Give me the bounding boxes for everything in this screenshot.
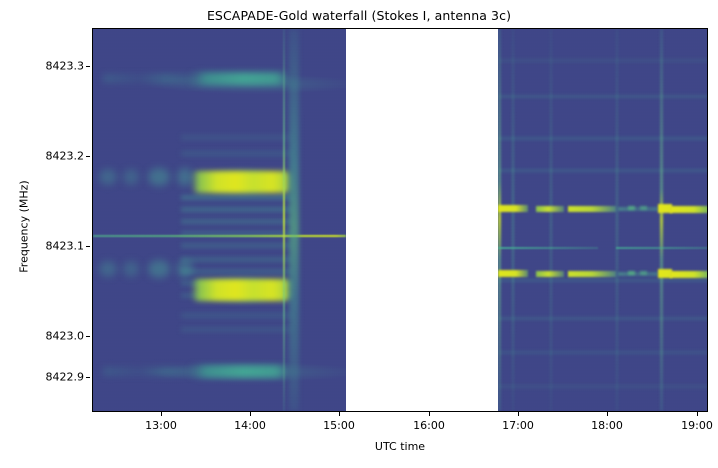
ytick-label-84233: 8423.3: [46, 60, 85, 73]
xtick-mark: [161, 412, 162, 416]
xtick-mark: [518, 412, 519, 416]
x-axis-label: UTC time: [92, 440, 708, 453]
ytick-label-84230: 8423.0: [46, 330, 85, 343]
ytick-label-84231: 8423.1: [46, 240, 85, 253]
xtick-mark: [429, 412, 430, 416]
noise-texture: [498, 29, 707, 411]
noise-texture: [93, 29, 346, 411]
xtick-mark: [697, 412, 698, 416]
xtick-label-1300: 13:00: [145, 419, 177, 432]
data-segment-morning-pass: [93, 29, 346, 411]
xtick-mark: [607, 412, 608, 416]
ytick-mark: [86, 377, 90, 378]
xtick-mark: [339, 412, 340, 416]
plot-area[interactable]: [92, 28, 708, 412]
ytick-label-84229: 8422.9: [46, 371, 85, 384]
ytick-label-84232: 8423.2: [46, 150, 85, 163]
y-axis-label: Frequency (MHz): [18, 127, 31, 327]
plot-clip: [93, 29, 707, 411]
xtick-mark: [250, 412, 251, 416]
ytick-mark: [86, 66, 90, 67]
ytick-mark: [86, 246, 90, 247]
xtick-label-1400: 14:00: [234, 419, 266, 432]
xtick-label-1500: 15:00: [323, 419, 355, 432]
chart-title: ESCAPADE-Gold waterfall (Stokes I, anten…: [0, 8, 718, 23]
waterfall-figure: ESCAPADE-Gold waterfall (Stokes I, anten…: [0, 0, 718, 468]
xtick-label-1700: 17:00: [502, 419, 534, 432]
ytick-mark: [86, 336, 90, 337]
xtick-label-1800: 18:00: [591, 419, 623, 432]
data-segment-afternoon-pass: [498, 29, 707, 411]
ytick-mark: [86, 156, 90, 157]
xtick-label-1900: 19:00: [681, 419, 713, 432]
xtick-label-1600: 16:00: [413, 419, 445, 432]
